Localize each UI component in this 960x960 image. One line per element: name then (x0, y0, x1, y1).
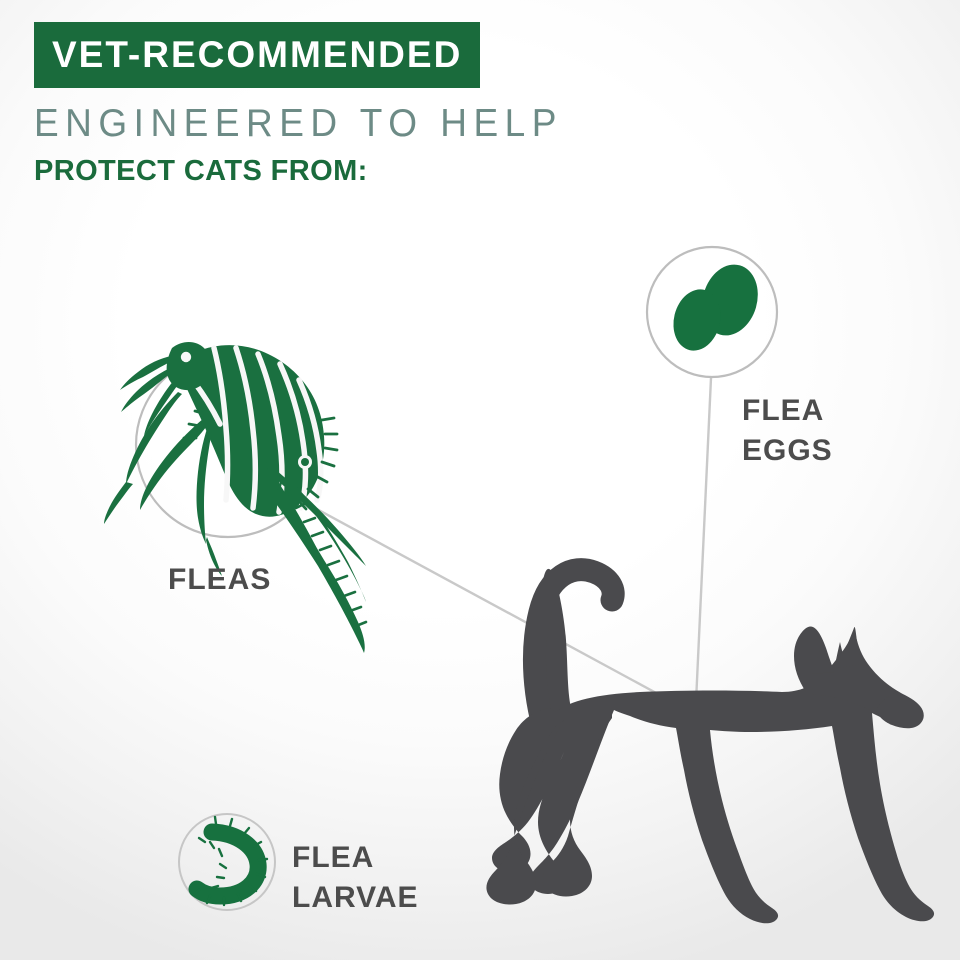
flea-larvae-label: FLEA LARVAE (292, 838, 419, 917)
infographic-canvas: VET-RECOMMENDED ENGINEERED TO HELP PROTE… (0, 0, 960, 960)
callout-fleas[interactable] (104, 342, 366, 653)
connector-lines (302, 378, 711, 707)
callout-flea-eggs[interactable] (647, 247, 777, 377)
flea-icon (104, 342, 366, 653)
connector-fleas-to-cat (302, 501, 682, 707)
connector-eggs-to-cat (696, 378, 711, 702)
cat-silhouette (486, 569, 934, 923)
callout-flea-larvae[interactable] (179, 814, 275, 910)
illustration-svg (0, 0, 960, 960)
flea-eggs-icon (667, 258, 766, 356)
cat-ear-front (838, 628, 862, 668)
fleas-label: FLEAS (168, 560, 271, 600)
flea-eggs-label: FLEA EGGS (742, 391, 833, 470)
flea-larva-icon (193, 817, 267, 905)
